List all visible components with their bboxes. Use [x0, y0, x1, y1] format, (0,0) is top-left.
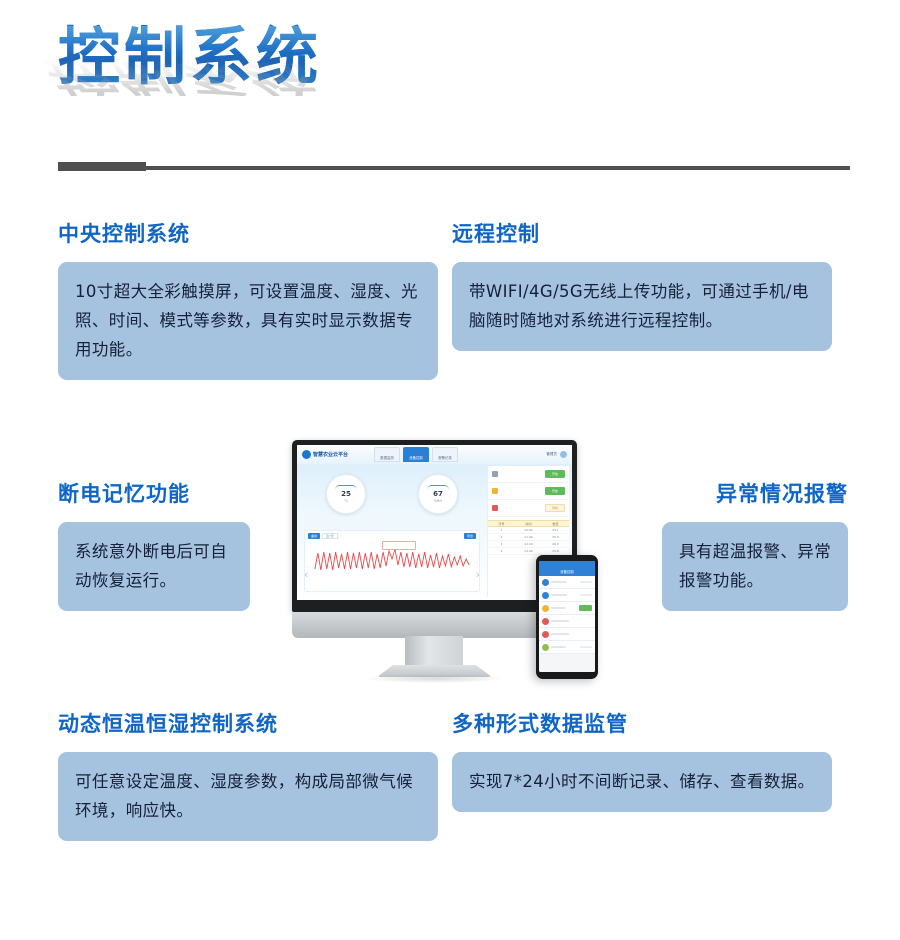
list-item-label — [551, 620, 569, 622]
feature-heading: 动态恒温恒湿控制系统 — [58, 708, 450, 738]
monitor-bezel: 智慧农业云平台 数据监测 设备控制 报警记录 管理员 — [292, 440, 577, 612]
monitor-shadow — [364, 674, 506, 683]
chart-plot: ‹ › — [305, 539, 479, 581]
lamp-icon — [492, 488, 498, 494]
feature-heading: 异常情况报警 — [648, 478, 848, 508]
monitor-stand-neck — [405, 636, 463, 668]
table-header-cell: 时间 — [515, 521, 542, 526]
feature-body: 可任意设定温度、湿度参数，构成局部微气候环境，响应快。 — [58, 752, 438, 841]
monitor-screen: 智慧农业云平台 数据监测 设备控制 报警记录 管理员 — [297, 445, 572, 600]
table-row: 3 12:00 26.0 — [488, 541, 569, 548]
list-item-label — [551, 607, 565, 609]
chart-toolbar: 曲线 近7天 导出 — [305, 531, 479, 539]
control-row: 待机 — [488, 500, 569, 517]
user-label: 管理员 — [546, 452, 557, 457]
divider-accent-segment — [58, 162, 146, 171]
feature-body: 带WIFI/4G/5G无线上传功能，可通过手机/电脑随时随地对系统进行远程控制。 — [452, 262, 832, 351]
table-cell: 12:00 — [515, 541, 542, 547]
dashboard-nav: 数据监测 设备控制 报警记录 — [374, 447, 458, 462]
control-row: 开启 — [488, 483, 569, 500]
control-toggle-button[interactable]: 开启 — [545, 487, 565, 495]
list-item[interactable] — [539, 602, 595, 615]
heater-icon — [542, 631, 549, 638]
dashboard-logo: 智慧农业云平台 — [302, 450, 348, 459]
gauge-unit: %RH — [434, 499, 442, 503]
fan-icon — [542, 579, 549, 586]
product-feature-page: 控制系统 控制系统 控制系统 中央控制系统 10寸超大全彩触摸屏，可设置温度、湿… — [0, 0, 900, 940]
feature-body: 具有超温报警、异常报警功能。 — [662, 522, 848, 611]
table-cell: 4 — [488, 548, 515, 554]
feature-dynamic-climate: 动态恒温恒湿控制系统 可任意设定温度、湿度参数，构成局部微气候环境，响应快。 — [58, 708, 450, 841]
table-cell: 25.1 — [542, 527, 569, 533]
table-row: 2 11:00 25.4 — [488, 534, 569, 541]
feature-heading: 多种形式数据监管 — [452, 708, 844, 738]
feature-data-supervision: 多种形式数据监管 实现7*24小时不间断记录、储存、查看数据。 — [452, 708, 844, 812]
phone-app-title: 设备控制 — [539, 567, 595, 576]
list-item[interactable] — [539, 576, 595, 589]
control-toggle-button[interactable]: 开启 — [545, 470, 565, 478]
table-cell: 25.4 — [542, 534, 569, 540]
records-table: 序号 时间 数值 1 10:00 25.1 2 11:0 — [488, 520, 569, 555]
list-item[interactable] — [539, 641, 595, 654]
control-standby-button[interactable]: 待机 — [545, 504, 565, 512]
feature-power-memory: 断电记忆功能 系统意外断电后可自动恢复运行。 — [58, 478, 288, 611]
list-item[interactable] — [539, 589, 595, 602]
feature-central-control: 中央控制系统 10寸超大全彩触摸屏，可设置温度、湿度、光照、时间、模式等参数，具… — [58, 218, 450, 380]
divider-line — [146, 166, 850, 170]
fan-icon — [492, 471, 498, 477]
logo-text: 智慧农业云平台 — [313, 451, 348, 458]
list-item-label — [551, 646, 566, 648]
gauge-air-humidity: 67 %RH — [418, 474, 458, 514]
gauge-value: 25 — [341, 491, 351, 498]
table-header-row: 序号 时间 数值 — [488, 520, 569, 527]
list-item-label — [551, 633, 569, 635]
roller-shutter-icon — [542, 644, 549, 651]
list-item-value — [580, 581, 592, 583]
table-cell: 26.0 — [542, 541, 569, 547]
table-cell: 11:00 — [515, 534, 542, 540]
feature-body: 系统意外断电后可自动恢复运行。 — [58, 522, 250, 611]
gauge-air-temperature: 25 °C — [326, 474, 366, 514]
table-row: 1 10:00 25.1 — [488, 527, 569, 534]
humidifier-icon — [542, 618, 549, 625]
feature-body: 10寸超大全彩触摸屏，可设置温度、湿度、光照、时间、模式等参数，具有实时显示数据… — [58, 262, 438, 380]
table-cell: 1 — [488, 527, 515, 533]
chart-prev-icon[interactable]: ‹ — [304, 569, 308, 580]
feature-heading: 中央控制系统 — [58, 218, 450, 248]
feature-heading: 远程控制 — [452, 218, 844, 248]
gauge-unit: °C — [344, 499, 348, 503]
table-header-cell: 数值 — [542, 521, 569, 526]
chart-tooltip — [382, 541, 416, 550]
list-item[interactable] — [539, 628, 595, 641]
feature-remote-control: 远程控制 带WIFI/4G/5G无线上传功能，可通过手机/电脑随时随地对系统进行… — [452, 218, 844, 351]
lamp-icon — [542, 605, 549, 612]
table-cell: 10:00 — [515, 527, 542, 533]
gauge-group: 25 °C 67 %RH — [300, 466, 484, 514]
nav-item-alarm-log[interactable]: 报警记录 — [432, 447, 458, 462]
dashboard-user[interactable]: 管理员 — [546, 451, 567, 458]
pump-icon — [542, 592, 549, 599]
list-item-toggle[interactable] — [579, 605, 592, 611]
table-cell: 2 — [488, 534, 515, 540]
desktop-monitor: 智慧农业云平台 数据监测 设备控制 报警记录 管理员 — [292, 440, 577, 640]
dashboard-topbar: 智慧农业云平台 数据监测 设备控制 报警记录 管理员 — [297, 445, 572, 464]
table-cell: 3 — [488, 541, 515, 547]
feature-body: 实现7*24小时不间断记录、储存、查看数据。 — [452, 752, 832, 812]
phone-screen: 设备控制 — [539, 561, 595, 672]
list-item-label — [551, 594, 567, 596]
trend-chart-card: 曲线 近7天 导出 ‹ › — [304, 530, 480, 592]
table-row: 4 13:00 25.8 — [488, 548, 569, 555]
humidifier-icon — [492, 505, 498, 511]
table-cell: 25.8 — [542, 548, 569, 554]
nav-item-monitoring[interactable]: 数据监测 — [374, 447, 400, 462]
feature-heading: 断电记忆功能 — [58, 478, 288, 508]
table-header-cell: 序号 — [488, 521, 515, 526]
list-item-value — [580, 646, 592, 648]
device-mockup: 智慧农业云平台 数据监测 设备控制 报警记录 管理员 — [288, 440, 618, 695]
monitor-chin — [292, 612, 577, 638]
table-cell: 13:00 — [515, 548, 542, 554]
page-title-block: 控制系统 控制系统 控制系统 — [58, 26, 478, 156]
control-row: 开启 — [488, 466, 569, 483]
list-item-label — [551, 581, 567, 583]
chart-next-icon[interactable]: › — [476, 569, 480, 580]
dashboard-left-panel: 25 °C 67 %RH 曲线 — [300, 466, 484, 597]
mobile-phone: 设备控制 — [536, 555, 598, 679]
gauge-value: 67 — [433, 491, 443, 498]
list-item-value — [580, 594, 592, 596]
nav-item-device-control[interactable]: 设备控制 — [403, 447, 429, 462]
avatar — [560, 451, 567, 458]
list-item[interactable] — [539, 615, 595, 628]
feature-abnormal-alarm: 异常情况报警 具有超温报警、异常报警功能。 — [648, 478, 848, 611]
page-title: 控制系统 — [58, 26, 478, 88]
logo-icon — [302, 450, 311, 459]
section-divider — [58, 162, 850, 172]
